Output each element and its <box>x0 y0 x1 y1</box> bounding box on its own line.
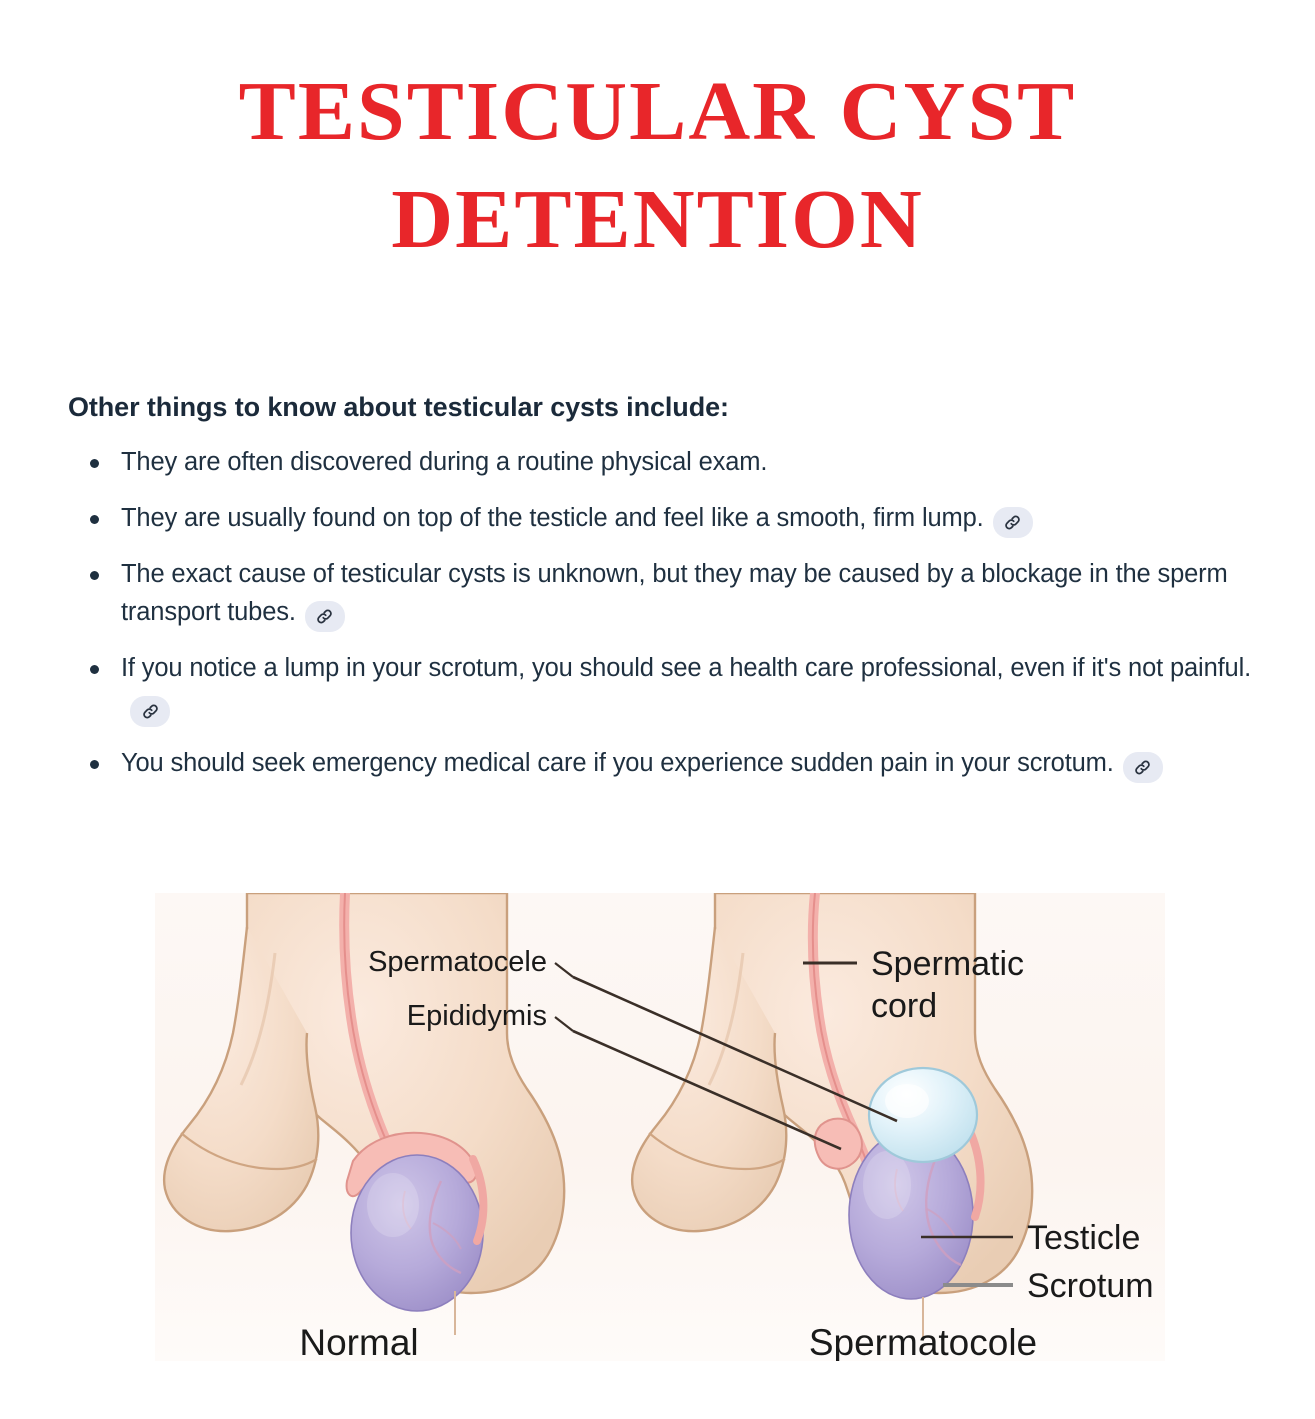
page-title-line-1: TESTICULAR CYST <box>0 58 1315 166</box>
list-item-text: You should seek emergency medical care i… <box>121 749 1114 777</box>
testicle-normal <box>351 1155 483 1311</box>
list-item: They are usually found on top of the tes… <box>68 499 1258 538</box>
anatomy-diagram: Normal Spermatocole Spermatocele <box>155 893 1165 1361</box>
label-scrotum: Scrotum <box>1027 1267 1154 1305</box>
list-item-text: They are often discovered during a routi… <box>121 448 767 476</box>
caption-spermatocele-text: Spermatocole <box>809 1322 1037 1361</box>
facts-list: They are often discovered during a routi… <box>68 443 1268 783</box>
link-icon[interactable] <box>1123 752 1163 783</box>
link-icon[interactable] <box>305 601 345 632</box>
list-item: If you notice a lump in your scrotum, yo… <box>68 649 1258 727</box>
link-icon[interactable] <box>130 696 170 727</box>
label-spermatic-cord-line-2: cord <box>871 987 937 1025</box>
label-spermatic-cord-line-1: Spermatic <box>871 945 1024 983</box>
caption-normal-text: Normal <box>299 1322 418 1361</box>
bullet-icon <box>90 459 99 468</box>
bullet-icon <box>90 571 99 580</box>
bullet-icon <box>90 515 99 524</box>
list-item: They are often discovered during a routi… <box>68 443 1258 482</box>
list-item-text: The exact cause of testicular cysts is u… <box>121 560 1228 627</box>
bullet-icon <box>90 665 99 674</box>
list-item: The exact cause of testicular cysts is u… <box>68 555 1258 633</box>
bullet-icon <box>90 760 99 769</box>
page-title: TESTICULAR CYST DETENTION <box>0 58 1315 273</box>
list-item-text: If you notice a lump in your scrotum, yo… <box>121 654 1251 682</box>
label-testicle: Testicle <box>1027 1219 1140 1257</box>
article-content: Other things to know about testicular cy… <box>68 391 1268 783</box>
section-heading: Other things to know about testicular cy… <box>68 391 1268 425</box>
link-icon[interactable] <box>993 507 1033 538</box>
label-spermatocele: Spermatocele <box>368 946 547 978</box>
list-item: You should seek emergency medical care i… <box>68 744 1258 783</box>
list-item-text: They are usually found on top of the tes… <box>121 504 984 532</box>
label-epididymis: Epididymis <box>407 1000 547 1032</box>
page-title-line-2: DETENTION <box>0 166 1315 274</box>
